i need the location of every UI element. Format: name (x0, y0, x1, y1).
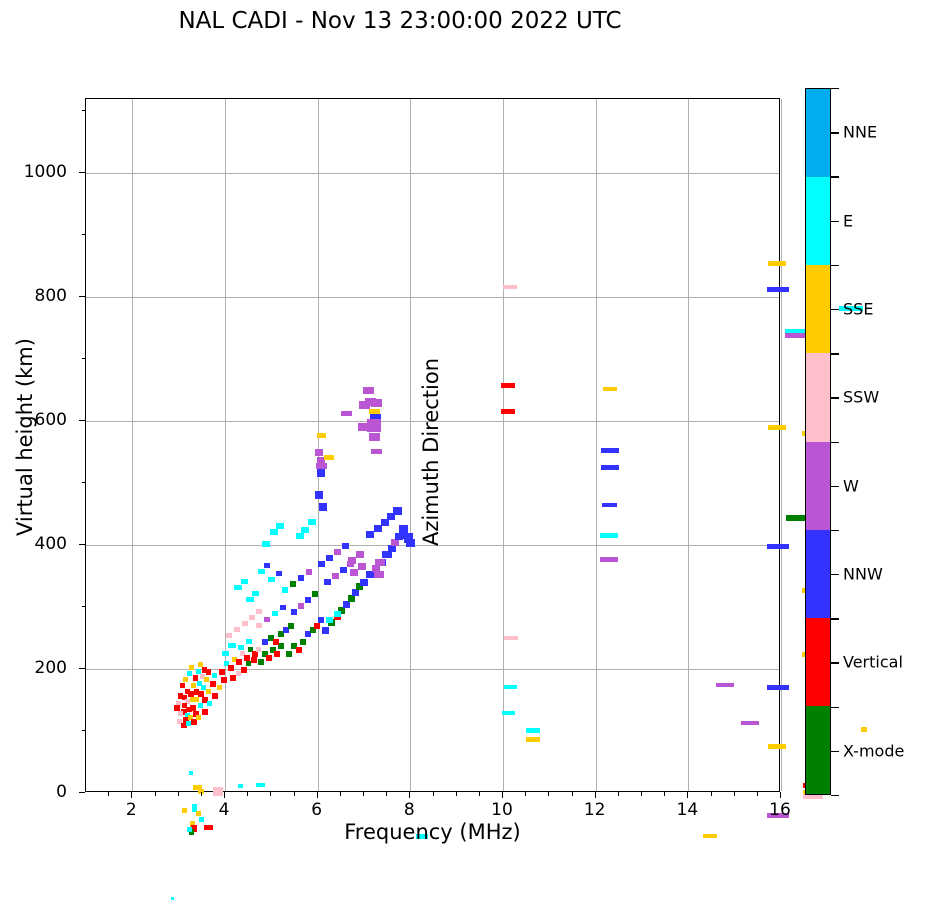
data-marker (290, 581, 296, 587)
y-axis-tick (79, 792, 85, 793)
x-axis-tick-label: 2 (126, 800, 137, 820)
y-axis-tick-label: 400 (35, 534, 67, 554)
data-marker (213, 787, 223, 796)
colorbar-boundary-tick (831, 88, 839, 89)
colorbar-tick-label-ssw: SSW (843, 388, 879, 407)
x-axis-tick-label: 4 (219, 800, 230, 820)
y-axis-tick (79, 420, 85, 421)
colorbar-boundary-tick (831, 442, 839, 443)
colorbar-boundary-tick (831, 530, 839, 531)
data-marker (314, 623, 320, 629)
x-axis-tick (780, 792, 781, 798)
data-marker (369, 433, 380, 441)
data-marker (501, 409, 515, 414)
data-marker (393, 507, 402, 515)
data-marker (359, 401, 370, 409)
y-axis-tick-label: 0 (56, 782, 67, 802)
data-marker (526, 728, 540, 733)
data-marker (273, 639, 279, 645)
data-marker (256, 783, 265, 787)
y-axis-minor-tick (82, 110, 86, 111)
data-marker (198, 703, 203, 708)
colorbar-tick (831, 751, 839, 752)
colorbar-boundary-tick (831, 707, 839, 708)
data-marker (341, 411, 352, 416)
data-marker (288, 623, 294, 629)
colorbar-boundary-tick (831, 265, 839, 266)
data-marker (358, 423, 371, 431)
data-marker (202, 709, 208, 715)
data-marker (371, 399, 382, 407)
data-marker (234, 627, 240, 632)
data-marker (334, 549, 341, 555)
x-axis-minor-tick (270, 792, 271, 796)
x-axis-tick (317, 792, 318, 798)
data-marker (340, 567, 347, 573)
data-marker (187, 671, 192, 676)
data-marker (246, 639, 252, 644)
data-marker (348, 595, 355, 602)
data-marker (768, 425, 786, 430)
data-marker (308, 519, 316, 525)
y-axis-minor-tick (82, 482, 86, 483)
y-axis-tick-label: 200 (35, 658, 67, 678)
data-marker (526, 737, 540, 742)
data-marker (196, 715, 201, 720)
data-marker (258, 659, 264, 665)
data-marker (350, 569, 358, 576)
colorbar-tick-label-sse: SSE (843, 299, 873, 318)
colorbar-tick-label-x-mode: X-mode (843, 741, 904, 760)
x-axis-minor-tick (294, 792, 295, 796)
data-marker (234, 585, 242, 590)
data-marker (246, 597, 254, 602)
y-axis-minor-tick (82, 358, 86, 359)
colorbar-tick-label-vertical: Vertical (843, 653, 903, 672)
y-axis-minor-tick (82, 234, 86, 235)
data-marker (315, 449, 323, 456)
x-axis-minor-tick (108, 792, 109, 796)
y-axis-label: Virtual height (km) (13, 87, 37, 787)
x-axis-minor-tick (178, 792, 179, 796)
data-marker (183, 677, 188, 682)
data-marker (228, 643, 236, 648)
data-marker (356, 551, 364, 558)
y-axis-tick-label: 600 (35, 410, 67, 430)
x-axis-minor-tick (734, 792, 735, 796)
data-marker (204, 677, 209, 682)
data-marker (180, 683, 185, 688)
data-marker (298, 575, 304, 581)
data-marker (342, 543, 349, 549)
data-marker (249, 615, 255, 620)
data-marker (207, 701, 212, 706)
x-axis-minor-tick (386, 792, 387, 796)
data-marker (601, 465, 619, 470)
data-marker (300, 639, 306, 645)
data-marker (318, 617, 324, 623)
colorbar-tick-label-e: E (843, 211, 853, 230)
data-marker (768, 744, 786, 749)
x-axis-tick (687, 792, 688, 798)
data-marker (280, 605, 286, 610)
data-marker (266, 655, 272, 661)
x-axis-tick-label: 14 (677, 800, 699, 820)
data-marker (391, 539, 399, 546)
y-axis-tick-label: 800 (35, 286, 67, 306)
data-marker (504, 685, 517, 689)
data-marker (348, 557, 356, 564)
data-marker (767, 685, 789, 690)
data-marker (363, 387, 374, 394)
colorbar-tick (831, 574, 839, 575)
data-marker (238, 784, 243, 788)
data-marker (256, 623, 262, 628)
x-axis-tick-label: 12 (584, 800, 606, 820)
x-axis-tick-label: 6 (311, 800, 322, 820)
x-axis-minor-tick (757, 792, 758, 796)
data-marker (366, 571, 374, 578)
data-marker (767, 287, 789, 292)
data-marker (305, 597, 311, 603)
data-marker (324, 455, 334, 460)
data-marker (238, 645, 244, 650)
colorbar-tick (831, 397, 839, 398)
x-axis-minor-tick (201, 792, 202, 796)
x-axis-tick (409, 792, 410, 798)
data-marker (360, 579, 368, 586)
data-marker (268, 577, 275, 582)
data-marker (503, 285, 517, 289)
data-marker (191, 683, 196, 688)
data-marker (334, 611, 341, 617)
data-marker (600, 557, 618, 562)
data-marker (501, 383, 515, 388)
colorbar-tick-label-nnw: NNW (843, 565, 883, 584)
y-axis-minor-tick (82, 606, 86, 607)
x-axis-tick-label: 10 (491, 800, 513, 820)
data-marker (406, 539, 415, 547)
data-marker (206, 689, 211, 694)
data-marker (256, 609, 262, 614)
data-marker (371, 449, 382, 454)
colorbar-tick (831, 309, 839, 310)
data-marker (194, 697, 199, 702)
data-marker (318, 561, 325, 567)
data-marker (178, 693, 183, 699)
x-axis-tick (224, 792, 225, 798)
data-marker (291, 609, 297, 615)
colorbar-ticks (805, 88, 839, 795)
x-axis-minor-tick (479, 792, 480, 796)
data-marker (322, 627, 329, 634)
colorbar-tick-label-w: W (843, 476, 859, 495)
data-marker (332, 573, 339, 579)
data-marker (226, 633, 232, 638)
data-marker (716, 683, 734, 687)
x-axis-tick (595, 792, 596, 798)
x-axis-minor-tick (711, 792, 712, 796)
data-marker (861, 727, 867, 732)
data-marker (374, 525, 382, 532)
x-axis-minor-tick (641, 792, 642, 796)
data-marker (296, 647, 302, 653)
data-marker (316, 463, 327, 469)
data-marker (206, 669, 211, 675)
ionogram-figure: NAL CADI - Nov 13 23:00:00 2022 UTC 2468… (0, 0, 951, 856)
data-marker (272, 611, 278, 616)
data-marker (241, 667, 247, 673)
data-marker (768, 261, 786, 266)
x-axis-minor-tick (247, 792, 248, 796)
colorbar-tick-label-nne: NNE (843, 123, 877, 142)
data-marker (242, 621, 248, 626)
colorbar-tick (831, 221, 839, 222)
data-marker (381, 519, 389, 526)
data-marker (326, 555, 333, 561)
x-axis-tick-label: 16 (769, 800, 791, 820)
x-axis-minor-tick (155, 792, 156, 796)
data-marker (375, 559, 385, 566)
data-marker (258, 569, 265, 574)
x-axis-minor-tick (548, 792, 549, 796)
data-marker (741, 721, 759, 725)
data-marker (182, 808, 187, 813)
data-marker (189, 665, 194, 670)
data-marker (326, 617, 333, 623)
y-axis-tick (79, 172, 85, 173)
data-marker (317, 469, 325, 477)
data-marker (270, 529, 278, 535)
data-marker (298, 603, 304, 609)
page-title: NAL CADI - Nov 13 23:00:00 2022 UTC (0, 8, 800, 34)
data-marker (366, 531, 374, 538)
data-marker (212, 693, 218, 699)
data-marker (189, 771, 193, 775)
colorbar-tick (831, 132, 839, 133)
y-axis-tick (79, 668, 85, 669)
x-axis-tick (131, 792, 132, 798)
colorbar-boundary-tick (831, 618, 839, 619)
data-marker (212, 673, 217, 678)
data-marker (601, 448, 619, 453)
data-marker (221, 677, 227, 683)
colorbar-label: Azimuth Direction (419, 22, 443, 882)
x-axis-minor-tick (572, 792, 573, 796)
colorbar-tick (831, 662, 839, 663)
data-marker (296, 533, 304, 539)
data-marker (219, 669, 225, 675)
data-marker (317, 433, 326, 438)
data-marker (374, 571, 384, 578)
data-marker (324, 579, 331, 585)
data-marker (286, 651, 292, 657)
data-marker (252, 591, 259, 596)
data-marker (504, 636, 518, 640)
x-axis-tick-label: 8 (404, 800, 415, 820)
data-marker (312, 591, 318, 597)
data-marker (319, 503, 327, 511)
data-marker (236, 659, 242, 665)
data-marker (210, 681, 216, 687)
data-marker (343, 601, 350, 608)
data-marker (382, 551, 392, 558)
data-marker (276, 571, 282, 576)
x-axis-minor-tick (456, 792, 457, 796)
data-marker (241, 579, 248, 584)
colorbar-boundary-tick (831, 795, 839, 796)
data-marker (306, 569, 312, 575)
colorbar-tick (831, 486, 839, 487)
y-axis-tick (79, 296, 85, 297)
data-marker (274, 651, 280, 657)
x-axis-minor-tick (363, 792, 364, 796)
data-marker (256, 647, 261, 652)
data-marker (502, 711, 515, 715)
x-axis-minor-tick (525, 792, 526, 796)
y-axis-minor-tick (82, 730, 86, 731)
data-marker (282, 587, 288, 593)
y-axis-tick (79, 544, 85, 545)
x-axis-minor-tick (618, 792, 619, 796)
data-marker (600, 533, 618, 538)
data-marker (222, 651, 229, 656)
data-marker (602, 503, 617, 507)
data-marker (786, 515, 806, 521)
data-marker (352, 589, 359, 596)
data-marker (228, 665, 234, 671)
data-marker (358, 563, 366, 570)
data-marker (767, 544, 789, 549)
colorbar-boundary-tick (831, 353, 839, 354)
data-marker (603, 387, 617, 391)
data-marker (196, 811, 201, 816)
x-axis-tick (502, 792, 503, 798)
data-marker (264, 617, 270, 622)
data-marker (262, 541, 270, 547)
x-axis-minor-tick (664, 792, 665, 796)
colorbar-boundary-tick (831, 176, 839, 177)
data-marker (315, 491, 323, 499)
data-marker (251, 657, 257, 663)
data-marker (178, 711, 183, 716)
x-axis-minor-tick (340, 792, 341, 796)
data-marker (264, 563, 270, 568)
data-marker (217, 685, 222, 690)
